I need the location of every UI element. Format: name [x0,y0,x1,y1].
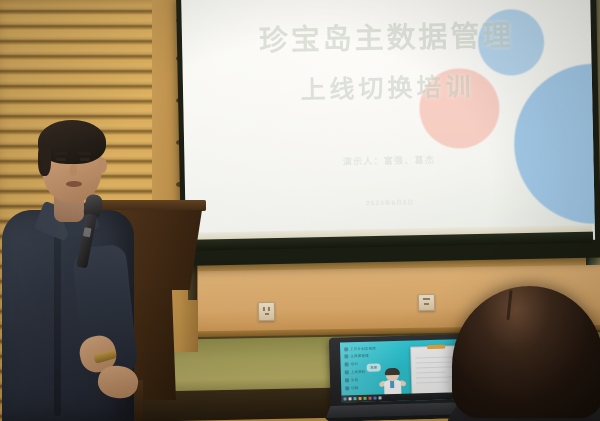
wall-outlet-right [418,294,435,311]
screen-reflection [340,339,468,402]
projection-screen: 珍宝岛主数据管理 上线切换培训 演示人：富强、葛杰 2023年6月6日 [181,0,595,248]
audience-member [452,286,600,421]
wall-outlet-left [258,302,275,321]
mouth [66,181,82,187]
presenter-hair-side [38,142,51,176]
presenter [2,118,152,421]
eye-left [56,158,66,161]
laptop-lid: 工作计划文档库 主数据管理 培训 上线资料 系统 [329,334,467,410]
presenter-ear [98,158,107,173]
laptop[interactable]: 工作计划文档库 主数据管理 培训 上线资料 系统 [323,334,469,421]
audience-hair [452,286,600,418]
eye-right [80,158,90,161]
laptop-screen[interactable]: 工作计划文档库 主数据管理 培训 上线资料 系统 [340,339,468,402]
shirt-placket [54,226,61,416]
presentation-photo-scene: 珍宝岛主数据管理 上线切换培训 演示人：富强、葛杰 2023年6月6日 [0,0,600,421]
nose [70,164,77,176]
